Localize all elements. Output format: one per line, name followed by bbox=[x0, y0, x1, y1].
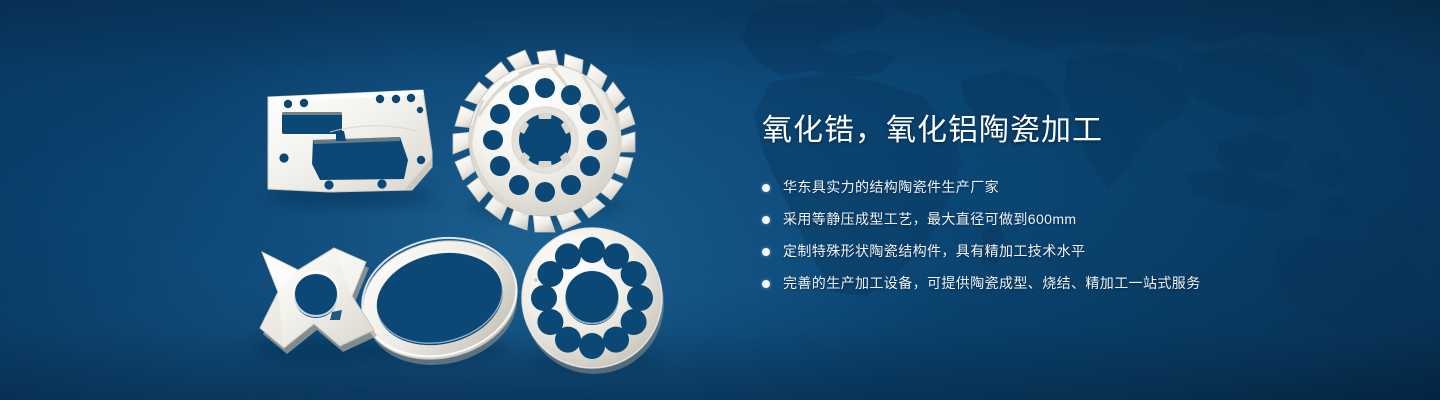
page-title: 氧化锆，氧化铝陶瓷加工 bbox=[762, 112, 1382, 150]
bullet-dot-icon bbox=[762, 184, 770, 192]
banner-copy: 氧化锆，氧化铝陶瓷加工 华东具实力的结构陶瓷件生产厂家 采用等静压成型工艺，最大… bbox=[762, 112, 1382, 304]
bullet-dot-icon bbox=[762, 280, 770, 288]
list-item-label: 定制特殊形状陶瓷结构件，具有精加工技术水平 bbox=[783, 240, 1085, 263]
bullet-dot-icon bbox=[762, 248, 770, 256]
list-item: 定制特殊形状陶瓷结构件，具有精加工技术水平 bbox=[762, 240, 1382, 263]
ceramic-processing-banner: 氧化锆，氧化铝陶瓷加工 华东具实力的结构陶瓷件生产厂家 采用等静压成型工艺，最大… bbox=[0, 0, 1440, 400]
list-item-label: 华东具实力的结构陶瓷件生产厂家 bbox=[783, 176, 999, 199]
list-item: 华东具实力的结构陶瓷件生产厂家 bbox=[762, 176, 1382, 199]
list-item: 完善的生产加工设备，可提供陶瓷成型、烧结、精加工一站式服务 bbox=[762, 272, 1382, 295]
product-photo-cluster bbox=[0, 0, 720, 400]
ceramic-perforated-disc bbox=[522, 228, 664, 374]
list-item-label: 完善的生产加工设备，可提供陶瓷成型、烧结、精加工一站式服务 bbox=[783, 272, 1201, 295]
feature-list: 华东具实力的结构陶瓷件生产厂家 采用等静压成型工艺，最大直径可做到600mm 定… bbox=[762, 176, 1382, 295]
list-item-label: 采用等静压成型工艺，最大直径可做到600mm bbox=[783, 208, 1076, 231]
ceramic-plate bbox=[268, 90, 432, 192]
list-item: 采用等静压成型工艺，最大直径可做到600mm bbox=[762, 208, 1382, 231]
bullet-dot-icon bbox=[762, 216, 770, 224]
